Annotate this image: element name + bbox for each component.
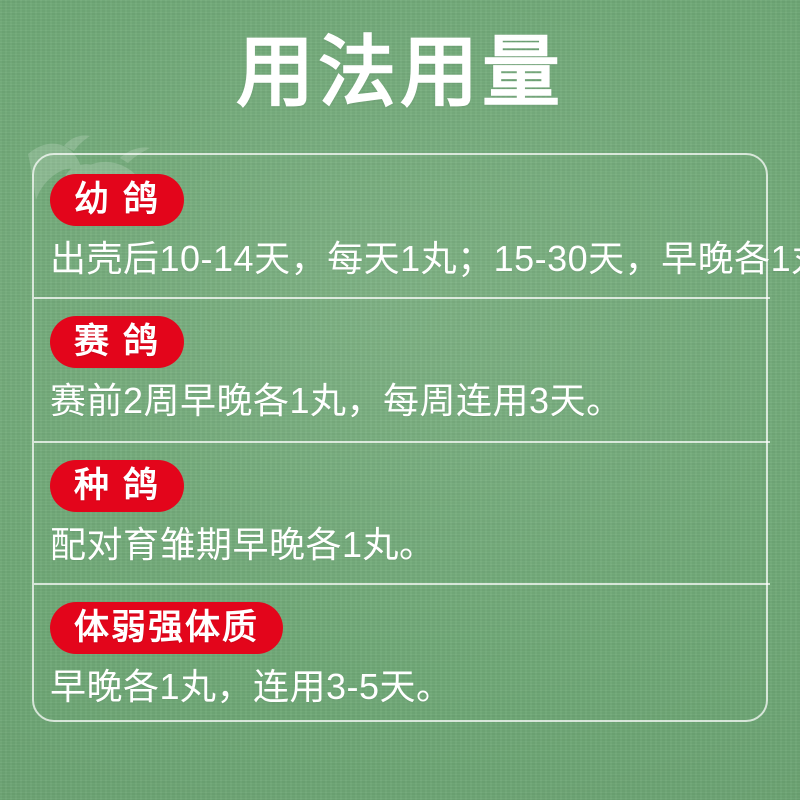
section-text-weak-constitution: 早晚各1丸，连用3-5天。	[50, 663, 453, 712]
section-badge-young-pigeon: 幼 鸽	[50, 174, 184, 226]
dosage-section-racing-pigeon: 赛 鸽 赛前2周早晚各1丸，每周连用3天。	[34, 297, 770, 441]
dosage-section-breeding-pigeon: 种 鸽 配对育雏期早晚各1丸。	[34, 441, 770, 583]
section-text-young-pigeon: 出壳后10-14天，每天1丸；15-30天，早晚各1丸。	[50, 235, 800, 284]
dosage-poster: 用法用量 幼 鸽 出壳后10-14天，每天1丸；15-30天，早晚各1丸。 赛 …	[0, 0, 800, 800]
section-text-breeding-pigeon: 配对育雏期早晚各1丸。	[50, 521, 436, 570]
dosage-section-young-pigeon: 幼 鸽 出壳后10-14天，每天1丸；15-30天，早晚各1丸。	[34, 155, 770, 297]
page-title: 用法用量	[0, 28, 800, 118]
section-text-racing-pigeon: 赛前2周早晚各1丸，每周连用3天。	[50, 377, 623, 426]
section-badge-weak-constitution: 体弱强体质	[50, 602, 283, 654]
section-badge-breeding-pigeon: 种 鸽	[50, 460, 184, 512]
dosage-section-weak-constitution: 体弱强体质 早晚各1丸，连用3-5天。	[34, 583, 770, 724]
dosage-frame: 幼 鸽 出壳后10-14天，每天1丸；15-30天，早晚各1丸。 赛 鸽 赛前2…	[32, 153, 768, 722]
section-badge-racing-pigeon: 赛 鸽	[50, 316, 184, 368]
